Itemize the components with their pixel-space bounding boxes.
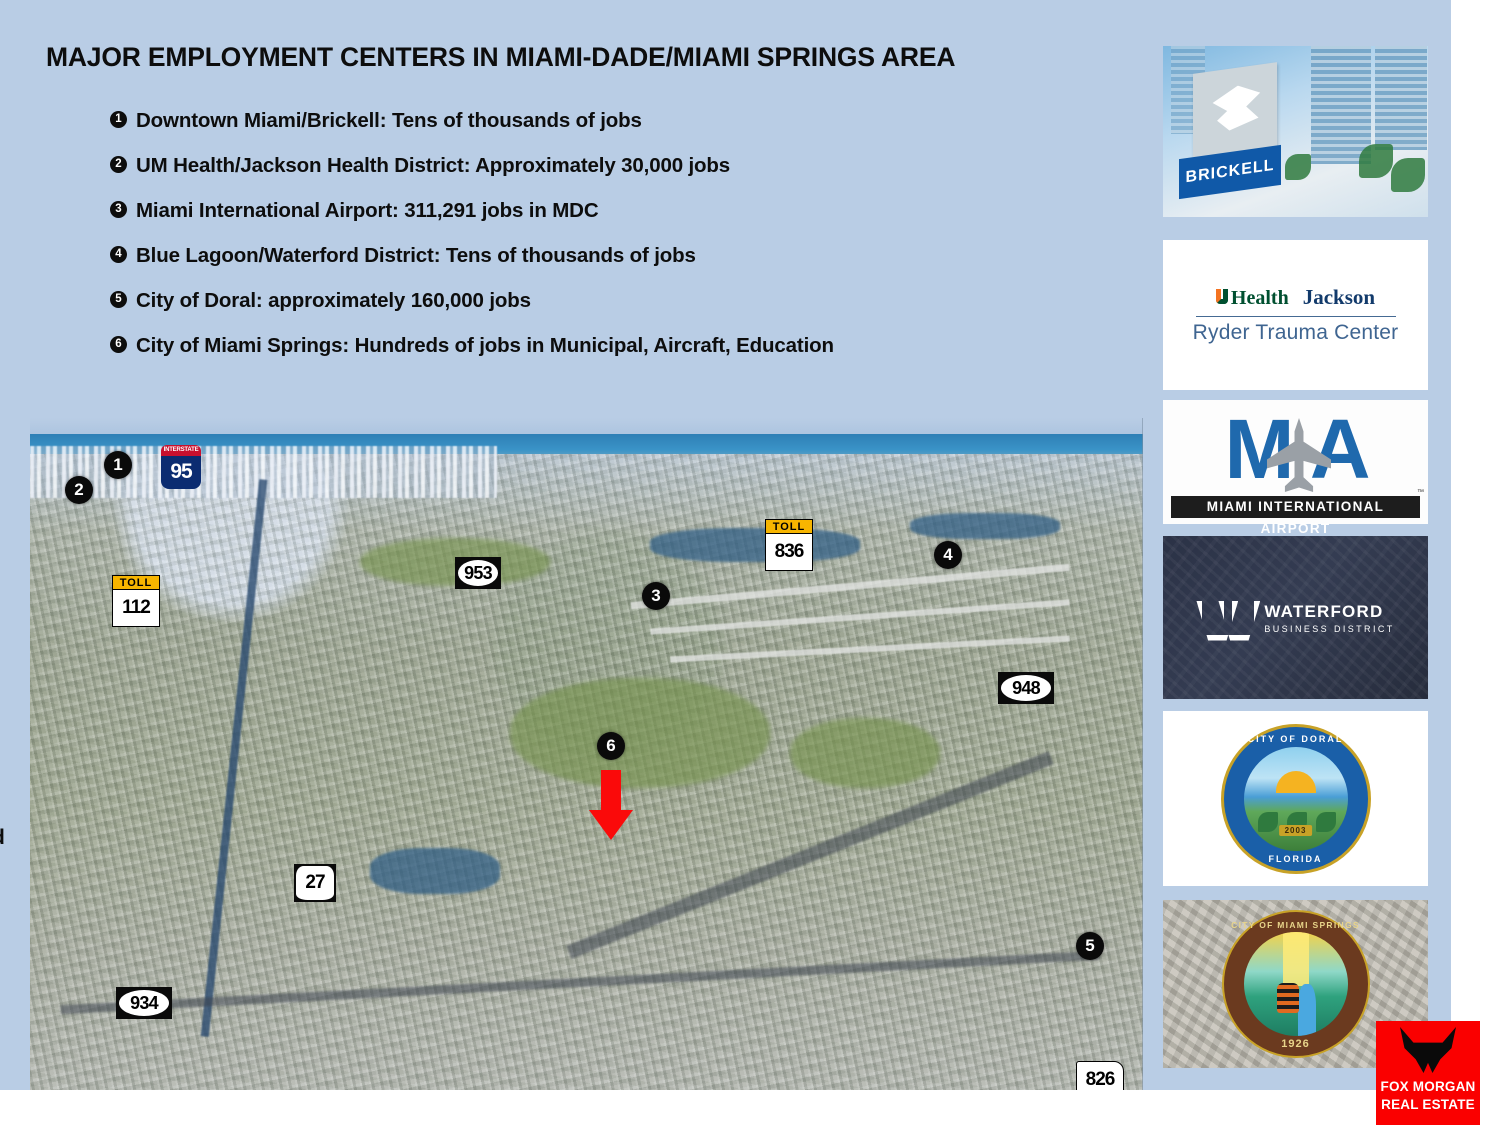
mia-letter-m: M bbox=[1225, 401, 1291, 498]
city-of-doral-seal-card: 2003 CITY OF DORAL FLORIDA bbox=[1163, 711, 1428, 886]
uhealth-text: Health bbox=[1231, 287, 1289, 310]
toll-banner: TOLL bbox=[765, 519, 813, 534]
bullet-marker-3: 3 bbox=[110, 201, 127, 218]
trademark-symbol: ™ bbox=[1417, 489, 1424, 496]
doral-ring-text: CITY OF DORAL FLORIDA bbox=[1224, 727, 1368, 871]
bullet-marker-4: 4 bbox=[110, 246, 127, 263]
brickell-photo: BRICKELL bbox=[1163, 46, 1428, 217]
uhealth-jackson-wordmark: Health Jackson bbox=[1216, 285, 1375, 310]
route-shield-948-icon: 948 bbox=[998, 672, 1054, 704]
route-shield-us27-icon: 27 bbox=[294, 864, 336, 902]
route-shield-953-icon: 953 bbox=[455, 557, 501, 589]
jackson-text: Jackson bbox=[1303, 285, 1375, 310]
doral-ring-top: CITY OF DORAL bbox=[1224, 734, 1368, 744]
spring-water-icon bbox=[1298, 984, 1316, 1036]
palm-tree-icon bbox=[1285, 154, 1311, 180]
fox-morgan-line1: FOX MORGAN bbox=[1376, 1079, 1480, 1094]
employment-centers-list: 1 Downtown Miami/Brickell: Tens of thous… bbox=[110, 98, 1130, 368]
springs-year: 1926 bbox=[1281, 1038, 1309, 1050]
bullet-marker-1: 1 bbox=[110, 111, 127, 128]
route-shield-toll-112-icon: TOLL 112 bbox=[112, 575, 160, 627]
map-park-area bbox=[510, 678, 770, 788]
toll-banner: TOLL bbox=[112, 575, 160, 590]
cut-off-edge-text: d bbox=[0, 826, 5, 850]
bullet-text-3: Miami International Airport: 311,291 job… bbox=[136, 188, 599, 233]
fox-morgan-line2: REAL ESTATE bbox=[1376, 1097, 1480, 1112]
waterford-name: WATERFORD bbox=[1264, 602, 1394, 622]
fox-morgan-real-estate-logo: FOX MORGAN REAL ESTATE bbox=[1376, 1021, 1480, 1125]
aerial-map: 1 2 3 4 5 6 INTERSTATE 95 TOLL 112 953 T… bbox=[30, 418, 1143, 1090]
city-of-miami-springs-seal: CITY OF MIAMI SPRINGS 1926 bbox=[1222, 910, 1370, 1058]
mia-subtitle: MIAMI INTERNATIONAL AIRPORT bbox=[1171, 496, 1420, 518]
bullet-text-2: UM Health/Jackson Health District: Appro… bbox=[136, 143, 730, 188]
map-marker-blue-lagoon-waterford[interactable]: 4 bbox=[934, 541, 962, 569]
route-shield-toll-836-icon: TOLL 836 bbox=[765, 519, 813, 571]
list-item: 3 Miami International Airport: 311,291 j… bbox=[110, 188, 1130, 233]
bullet-marker-6: 6 bbox=[110, 336, 127, 353]
uhealth-jackson-logo: Health Jackson Ryder Trauma Center bbox=[1163, 240, 1428, 390]
map-marker-city-of-miami-springs[interactable]: 6 bbox=[597, 732, 625, 760]
springs-seal-scene bbox=[1244, 932, 1348, 1036]
city-of-doral-seal: 2003 CITY OF DORAL FLORIDA bbox=[1221, 724, 1371, 874]
i95-number: 95 bbox=[161, 456, 201, 489]
list-item: 5 City of Doral: approximately 160,000 j… bbox=[110, 278, 1130, 323]
toll-836-number: 836 bbox=[765, 534, 813, 571]
map-marker-miami-international-airport[interactable]: 3 bbox=[642, 582, 670, 610]
divider bbox=[1196, 316, 1396, 318]
brickell-tower bbox=[1375, 46, 1427, 150]
slide-root: MAJOR EMPLOYMENT CENTERS IN MIAMI-DADE/M… bbox=[0, 0, 1500, 1125]
map-lake bbox=[650, 528, 860, 562]
list-item: 6 City of Miami Springs: Hundreds of job… bbox=[110, 323, 1130, 368]
site-location-arrow-icon bbox=[589, 770, 633, 840]
arrow-stem bbox=[601, 770, 621, 812]
route-27-number: 27 bbox=[296, 866, 334, 900]
i95-banner: INTERSTATE bbox=[161, 445, 201, 456]
map-lake bbox=[370, 848, 500, 894]
waterford-sub: BUSINESS DISTRICT bbox=[1264, 624, 1394, 634]
route-948-number: 948 bbox=[1001, 675, 1051, 701]
map-right-edge bbox=[1142, 418, 1143, 1090]
waterford-wordmark: WATERFORD BUSINESS DISTRICT bbox=[1264, 602, 1394, 634]
page-title: MAJOR EMPLOYMENT CENTERS IN MIAMI-DADE/M… bbox=[46, 42, 1106, 73]
route-826-number: 826 bbox=[1076, 1061, 1124, 1090]
map-marker-downtown-miami-brickell[interactable]: 1 bbox=[104, 451, 132, 479]
bullet-text-4: Blue Lagoon/Waterford District: Tens of … bbox=[136, 233, 696, 278]
list-item: 2 UM Health/Jackson Health District: App… bbox=[110, 143, 1130, 188]
map-marker-city-of-doral[interactable]: 5 bbox=[1076, 932, 1104, 960]
mia-logo: M I A ™ MIAMI INTERNATIONAL AIRPORT bbox=[1163, 400, 1428, 524]
list-item: 1 Downtown Miami/Brickell: Tens of thous… bbox=[110, 98, 1130, 143]
um-u-logo-icon bbox=[1216, 289, 1228, 304]
map-lake bbox=[910, 513, 1060, 539]
ryder-trauma-center-text: Ryder Trauma Center bbox=[1193, 321, 1399, 345]
bullet-marker-5: 5 bbox=[110, 291, 127, 308]
route-shield-934-icon: 934 bbox=[116, 987, 172, 1019]
palm-tree-icon bbox=[1359, 144, 1393, 178]
waterford-w-mark-icon bbox=[1196, 601, 1252, 635]
arrow-head bbox=[589, 810, 633, 840]
list-item: 4 Blue Lagoon/Waterford District: Tens o… bbox=[110, 233, 1130, 278]
fox-head-icon bbox=[1400, 1027, 1456, 1073]
mia-letter-a: A bbox=[1310, 401, 1367, 498]
waterford-business-district-logo: WATERFORD BUSINESS DISTRICT bbox=[1163, 536, 1428, 699]
kneeling-figure-icon bbox=[1277, 983, 1299, 1013]
bullet-text-5: City of Doral: approximately 160,000 job… bbox=[136, 278, 531, 323]
route-shield-i95-icon: INTERSTATE 95 bbox=[161, 445, 201, 489]
brickell-tower bbox=[1311, 46, 1371, 164]
toll-112-number: 112 bbox=[112, 590, 160, 627]
sun-rays-icon bbox=[1283, 932, 1309, 986]
bullet-marker-2: 2 bbox=[110, 156, 127, 173]
doral-ring-bottom: FLORIDA bbox=[1224, 854, 1368, 864]
route-shield-826-icon: 826 bbox=[1076, 1061, 1124, 1090]
map-marker-um-jackson-health[interactable]: 2 bbox=[65, 476, 93, 504]
route-934-number: 934 bbox=[119, 990, 169, 1016]
bullet-text-6: City of Miami Springs: Hundreds of jobs … bbox=[136, 323, 834, 368]
springs-ring-top: CITY OF MIAMI SPRINGS bbox=[1224, 920, 1368, 930]
bullet-text-1: Downtown Miami/Brickell: Tens of thousan… bbox=[136, 98, 642, 143]
map-green-patch bbox=[790, 718, 940, 788]
route-953-number: 953 bbox=[458, 560, 498, 586]
palm-tree-icon bbox=[1391, 158, 1425, 192]
